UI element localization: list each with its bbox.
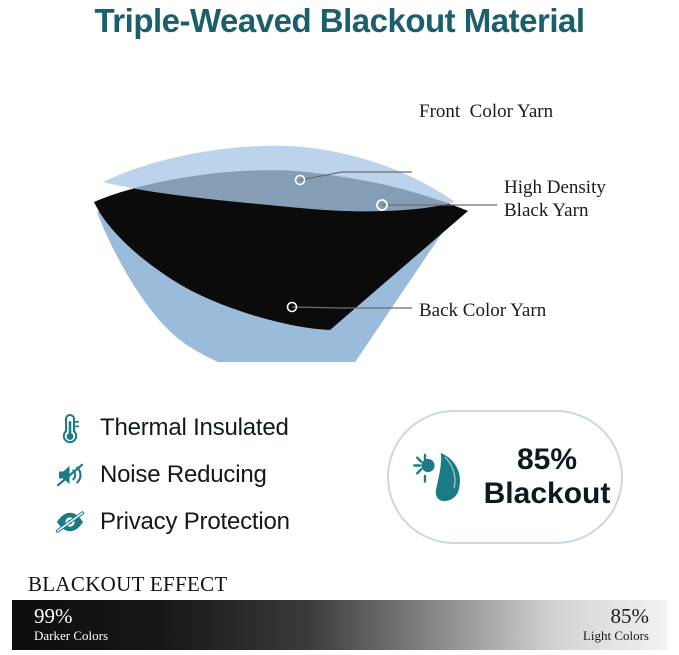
blackout-badge-word: Blackout (473, 477, 621, 511)
feature-label-privacy-protection: Privacy Protection (100, 508, 290, 536)
blackout-badge: 85% Blackout (387, 410, 623, 544)
feature-item-privacy-protection: Privacy Protection (50, 498, 380, 545)
feature-label-noise-reducing: Noise Reducing (100, 461, 267, 489)
blackout-effect-left-caption: Darker Colors (34, 628, 108, 644)
feature-label-thermal-insulated: Thermal Insulated (100, 414, 289, 442)
speaker-mute-icon (50, 457, 90, 493)
blackout-effect-left-block: 99% Darker Colors (34, 604, 108, 644)
blackout-effect-right-percent: 85% (583, 604, 649, 628)
feature-item-noise-reducing: Noise Reducing (50, 451, 380, 498)
label-high-density-line1: High Density (504, 177, 606, 198)
label-front-color-yarn: Front Color Yarn (419, 100, 553, 123)
eye-slash-icon (50, 504, 90, 540)
label-high-density-line2: Black Yarn (504, 200, 588, 221)
feature-item-thermal-insulated: Thermal Insulated (50, 404, 380, 451)
fabric-layers-diagram: Front Color Yarn High DensityBlack Yarn … (0, 62, 679, 362)
feature-list: Thermal Insulated Noise Reducing Privacy… (50, 404, 380, 545)
sun-behind-curtain-icon (405, 449, 479, 505)
blackout-badge-text: 85% Blackout (473, 443, 621, 511)
thermometer-icon (50, 410, 90, 446)
blackout-effect-title: BLACKOUT EFFECT (28, 572, 228, 597)
blackout-effect-left-percent: 99% (34, 604, 108, 628)
blackout-effect-right-block: 85% Light Colors (583, 604, 649, 644)
page-title: Triple-Weaved Blackout Material (0, 2, 679, 40)
label-back-color-yarn: Back Color Yarn (419, 299, 546, 322)
blackout-effect-right-caption: Light Colors (583, 628, 649, 644)
blackout-badge-percent: 85% (473, 443, 621, 477)
blackout-effect-gradient-bar: 99% Darker Colors 85% Light Colors (12, 600, 667, 650)
label-high-density-black-yarn: High DensityBlack Yarn (504, 176, 606, 222)
